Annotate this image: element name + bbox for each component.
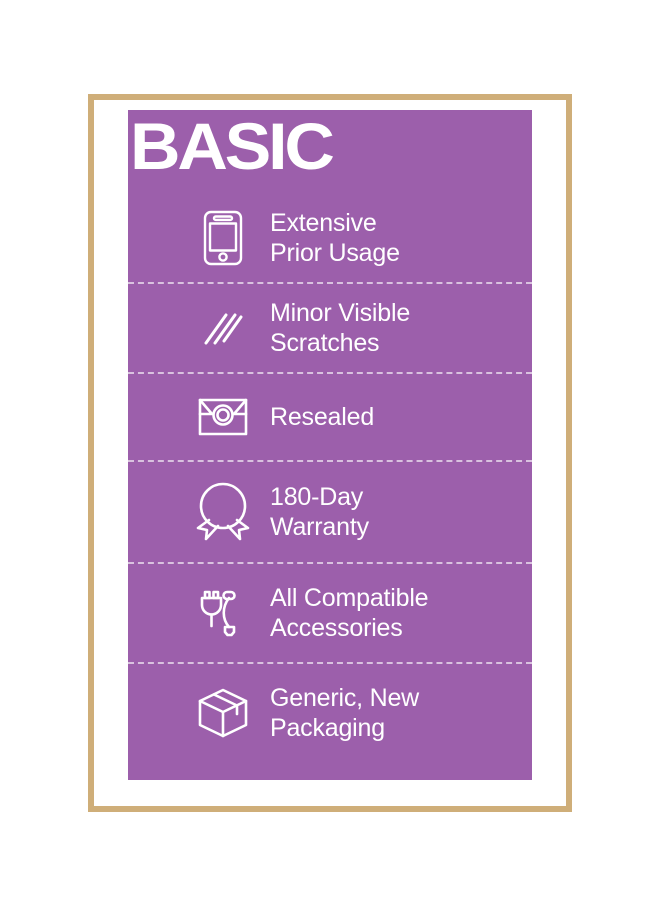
sealed-envelope-icon [194, 386, 252, 448]
feature-label: Extensive Prior Usage [270, 208, 400, 268]
feature-row-accessories: All Compatible Accessories [128, 562, 532, 662]
scratches-icon [194, 297, 252, 359]
shipping-box-icon [194, 682, 252, 744]
usb-cable-icon [194, 582, 252, 644]
poster-mat: BASIC Extensive Prior Usage [94, 100, 566, 806]
feature-list: Extensive Prior Usage Minor Visible Scra… [128, 194, 532, 762]
feature-row-packaging: Generic, New Packaging [128, 662, 532, 762]
poster-frame: BASIC Extensive Prior Usage [88, 94, 572, 812]
specification-card: BASIC Extensive Prior Usage [128, 110, 532, 780]
feature-label: Resealed [270, 402, 374, 432]
feature-label: Minor Visible Scratches [270, 298, 410, 358]
feature-row-resealed: Resealed [128, 372, 532, 460]
feature-label: Generic, New Packaging [270, 683, 419, 743]
page-title: BASIC [130, 113, 332, 179]
award-rosette-icon [194, 481, 252, 543]
smartphone-icon [194, 207, 252, 269]
feature-label: 180-Day Warranty [270, 482, 369, 542]
feature-row-scratches: Minor Visible Scratches [128, 282, 532, 372]
feature-label: All Compatible Accessories [270, 583, 428, 643]
feature-row-warranty: 180-Day Warranty [128, 460, 532, 562]
feature-row-prior-usage: Extensive Prior Usage [128, 194, 532, 282]
